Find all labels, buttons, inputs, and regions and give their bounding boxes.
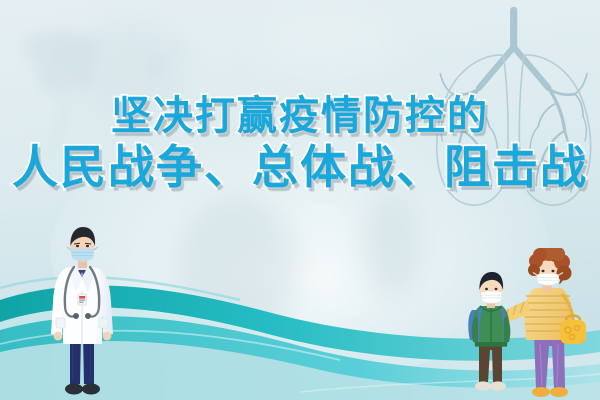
doctor-figure [36, 222, 128, 400]
mother-shoe-right [550, 387, 568, 397]
mother-shoe-left [532, 387, 550, 397]
child-shoe-right [490, 381, 506, 390]
doctor-coat-pocket-left [56, 318, 65, 328]
doctor-eye-right [86, 245, 89, 247]
doctor-hand-right [103, 332, 112, 341]
doctor-coat-pocket-right [99, 318, 108, 328]
doctor-hand-left [54, 332, 63, 341]
family-figure [466, 248, 594, 400]
child-eye-right [495, 288, 498, 290]
headline-line-1: 坚决打赢疫情防控的 [0, 96, 600, 137]
doctor-id-badge [78, 294, 87, 305]
child-shoe-left [475, 381, 491, 390]
mother-trousers [534, 334, 565, 388]
doctor-shoe-left [65, 384, 83, 395]
headline-line-2: 人民战争、总体战、阻击战 [0, 145, 600, 192]
mother-eye-left [542, 270, 545, 272]
poster-description: 母亲为孩子戴口罩 [0, 16, 1, 17]
child-eye-left [485, 288, 488, 290]
mother-eye-right [552, 270, 555, 272]
child-trousers [479, 342, 502, 382]
doctor-eye-left [76, 245, 79, 247]
headline-block: 坚决打赢疫情防控的 人民战争、总体战、阻击战 [0, 96, 600, 192]
poster-canvas: 坚决打赢疫情防控的 人民战争、总体战、阻击战 [0, 0, 600, 400]
child-figure [468, 272, 510, 391]
doctor-shoe-right [82, 384, 100, 395]
